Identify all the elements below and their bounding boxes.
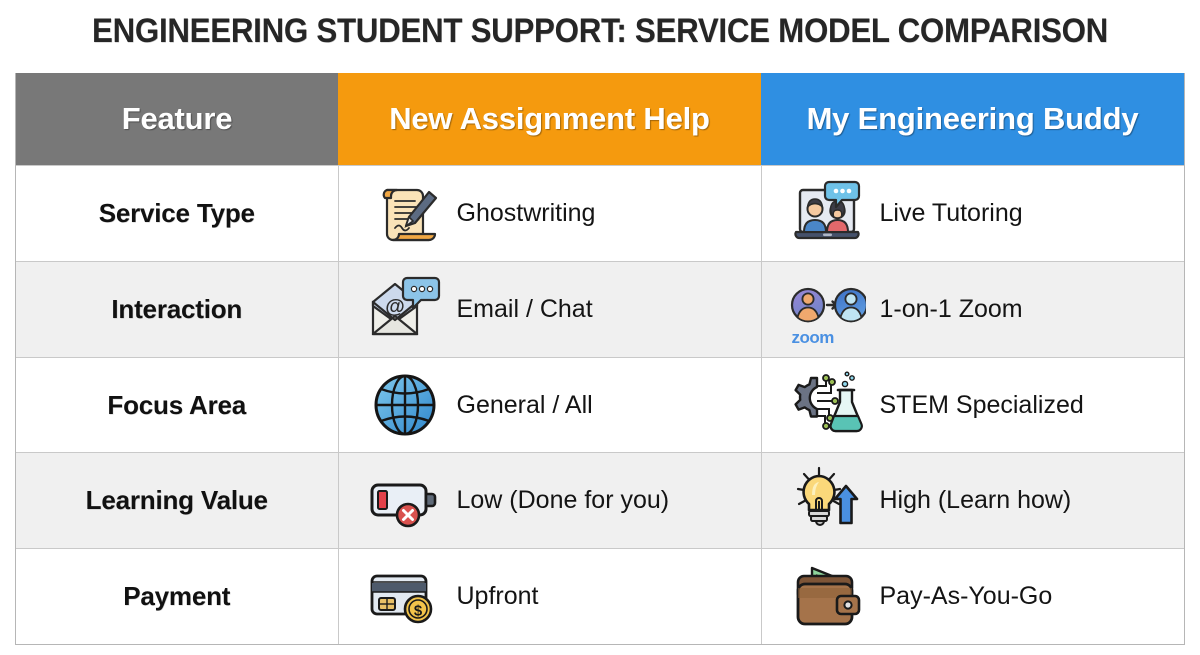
- cell-label: STEM Specialized: [880, 391, 1084, 420]
- credit-card-coin-icon: $: [367, 560, 443, 634]
- feature-label-interaction: Interaction: [16, 261, 338, 357]
- table-header: Feature New Assignment Help My Engineeri…: [16, 73, 1184, 166]
- column-header-feature: Feature: [16, 73, 338, 166]
- table-row: Learning Value Low (Done for you): [16, 453, 1184, 549]
- comparison-table-container: Feature New Assignment Help My Engineeri…: [15, 73, 1185, 645]
- feature-label-focus-area: Focus Area: [16, 357, 338, 453]
- globe-icon: [367, 368, 443, 442]
- gear-circuit-flask-icon: [790, 368, 866, 442]
- lightbulb-up-arrow-icon: [790, 464, 866, 538]
- page-title: ENGINEERING STUDENT SUPPORT: SERVICE MOD…: [48, 12, 1152, 51]
- cell-label: High (Learn how): [880, 486, 1072, 515]
- cell-learning-value-right: High (Learn how): [761, 453, 1184, 549]
- cell-learning-value-left: Low (Done for you): [338, 453, 761, 549]
- cell-label: Live Tutoring: [880, 199, 1023, 228]
- table-row: Interaction @: [16, 261, 1184, 357]
- cell-interaction-left: @ Email / Chat: [338, 261, 761, 357]
- cell-label: Upfront: [457, 582, 539, 611]
- feature-label-payment: Payment: [16, 549, 338, 644]
- table-body: Service Type: [16, 166, 1184, 645]
- zoom-wordmark: zoom: [792, 328, 834, 348]
- two-people-arrow-icon: zoom: [790, 272, 866, 346]
- email-chat-icon: @: [367, 272, 443, 346]
- table-row: Payment: [16, 549, 1184, 644]
- table-row: Focus Area: [16, 357, 1184, 453]
- wallet-cash-icon: [790, 560, 866, 634]
- cell-label: Email / Chat: [457, 295, 593, 324]
- table-row: Service Type: [16, 166, 1184, 262]
- scroll-pen-icon: [367, 176, 443, 250]
- cell-service-type-left: Ghostwriting: [338, 166, 761, 262]
- column-header-new-assignment-help: New Assignment Help: [338, 73, 761, 166]
- cell-interaction-right: zoom 1-on-1 Zoom: [761, 261, 1184, 357]
- cell-payment-right: Pay-As-You-Go: [761, 549, 1184, 644]
- cell-label: Ghostwriting: [457, 199, 596, 228]
- cell-focus-area-right: STEM Specialized: [761, 357, 1184, 453]
- header-row: Feature New Assignment Help My Engineeri…: [16, 73, 1184, 166]
- cell-service-type-right: Live Tutoring: [761, 166, 1184, 262]
- cell-payment-left: $ Upfront: [338, 549, 761, 644]
- svg-text:$: $: [413, 602, 422, 619]
- feature-label-service-type: Service Type: [16, 166, 338, 262]
- low-battery-x-icon: [367, 464, 443, 538]
- column-header-my-engineering-buddy: My Engineering Buddy: [761, 73, 1184, 166]
- feature-label-learning-value: Learning Value: [16, 453, 338, 549]
- comparison-table: Feature New Assignment Help My Engineeri…: [16, 73, 1184, 644]
- cell-label: General / All: [457, 391, 593, 420]
- svg-text:@: @: [385, 296, 405, 318]
- cell-label: Low (Done for you): [457, 486, 670, 515]
- cell-label: 1-on-1 Zoom: [880, 295, 1023, 324]
- video-call-people-icon: [790, 176, 866, 250]
- cell-focus-area-left: General / All: [338, 357, 761, 453]
- cell-label: Pay-As-You-Go: [880, 582, 1053, 611]
